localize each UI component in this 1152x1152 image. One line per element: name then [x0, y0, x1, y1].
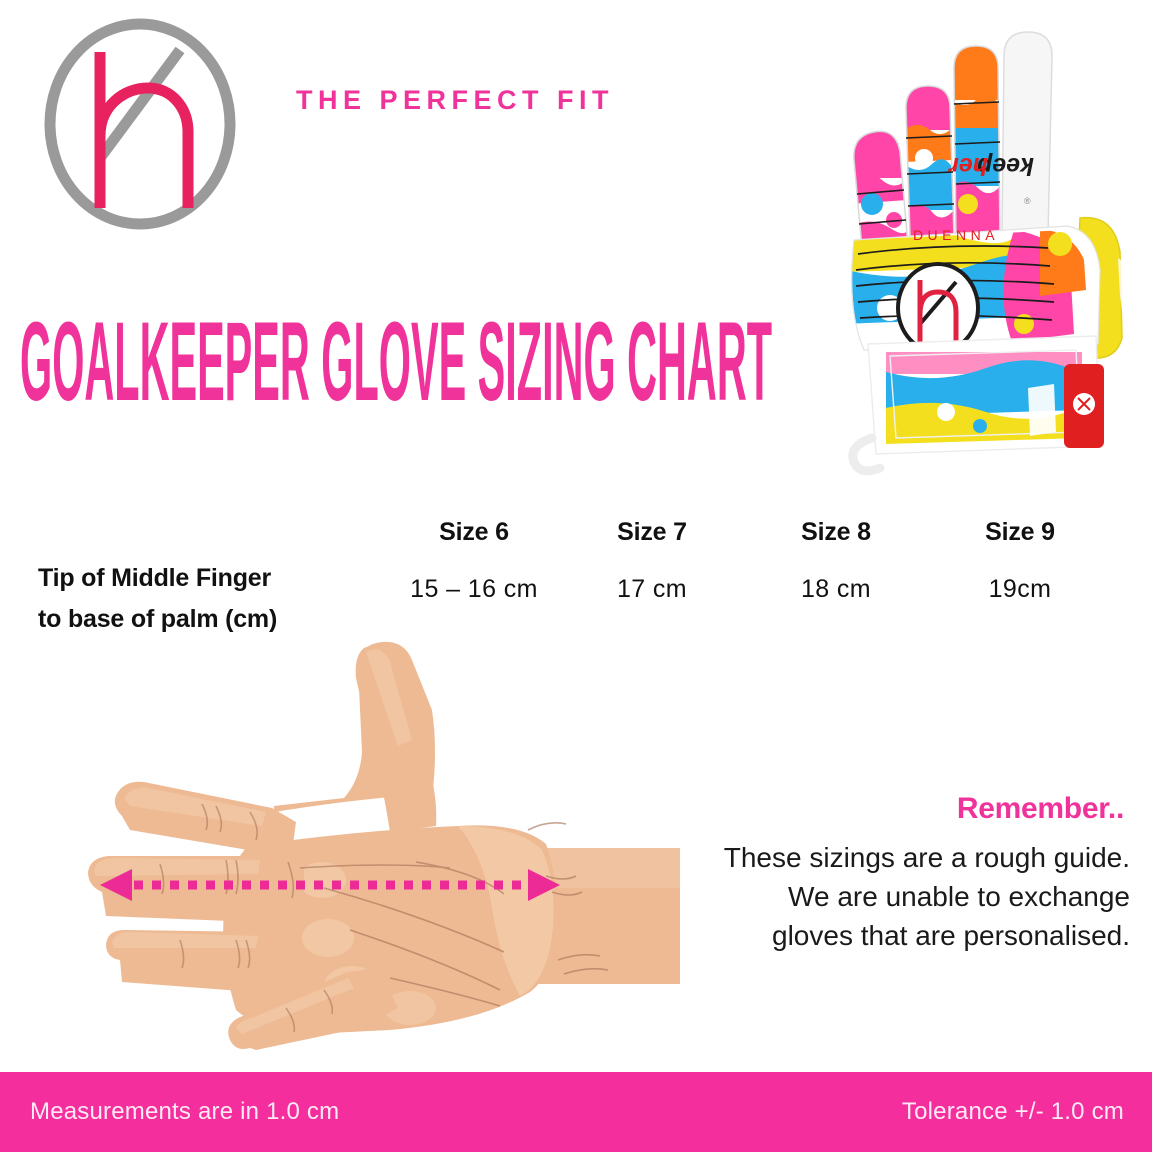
glove-finger-middle — [950, 42, 1002, 236]
remember-line-2: We are unable to exchange — [684, 877, 1130, 916]
footer-tolerance-note: Tolerance +/- 1.0 cm — [902, 1098, 1124, 1126]
remember-body: These sizings are a rough guide. We are … — [684, 838, 1140, 955]
keepher-logo — [42, 18, 238, 230]
glove-red-tag — [1064, 364, 1104, 448]
remember-note: Remember.. These sizings are a rough gui… — [684, 792, 1140, 955]
hand-measurement-illustration — [60, 630, 680, 1055]
size-header-8: Size 8 — [736, 518, 936, 547]
sizing-chart-page: THE PERFECT FIT GOALKEEPER GLOVE SIZING … — [0, 0, 1152, 1152]
glove-model-name: DUENNA — [913, 227, 999, 243]
size-column-7: Size 7 17 cm — [552, 518, 752, 604]
footer-measurements-note: Measurements are in 1.0 cm — [30, 1098, 339, 1126]
size-value-8: 18 cm — [736, 575, 936, 604]
registered-mark-icon: ® — [1024, 196, 1031, 206]
remember-line-3: gloves that are personalised. — [684, 916, 1130, 955]
size-value-6: 15 – 16 cm — [374, 575, 574, 604]
size-column-6: Size 6 15 – 16 cm — [374, 518, 574, 604]
tagline: THE PERFECT FIT — [296, 85, 614, 116]
footer-bar: Measurements are in 1.0 cm Tolerance +/-… — [0, 1072, 1152, 1152]
size-column-9: Size 9 19cm — [920, 518, 1120, 604]
glove-product-image: keep her ® — [828, 8, 1152, 478]
measurement-label-line1: Tip of Middle Finger — [38, 558, 368, 599]
size-value-7: 17 cm — [552, 575, 752, 604]
size-header-6: Size 6 — [374, 518, 574, 547]
glove-brand-her: her — [948, 152, 988, 180]
page-title: GOALKEEPER GLOVE SIZING CHART — [20, 305, 780, 415]
size-column-8: Size 8 18 cm — [736, 518, 936, 604]
size-header-9: Size 9 — [920, 518, 1120, 547]
glove-finger-index — [902, 82, 954, 238]
remember-heading: Remember.. — [684, 792, 1140, 826]
glove-back-panel: DUENNA — [844, 226, 1100, 352]
glove-wrist-cuff — [853, 336, 1104, 471]
size-header-7: Size 7 — [552, 518, 752, 547]
glove-finger-pinky — [848, 126, 910, 252]
finger-index — [115, 782, 296, 852]
size-value-9: 19cm — [920, 575, 1120, 604]
measurement-row-label: Tip of Middle Finger to base of palm (cm… — [38, 558, 368, 640]
remember-line-1: These sizings are a rough guide. — [684, 838, 1130, 877]
page-title-text: GOALKEEPER GLOVE SIZING CHART — [20, 305, 772, 415]
finger-ring — [106, 930, 304, 996]
